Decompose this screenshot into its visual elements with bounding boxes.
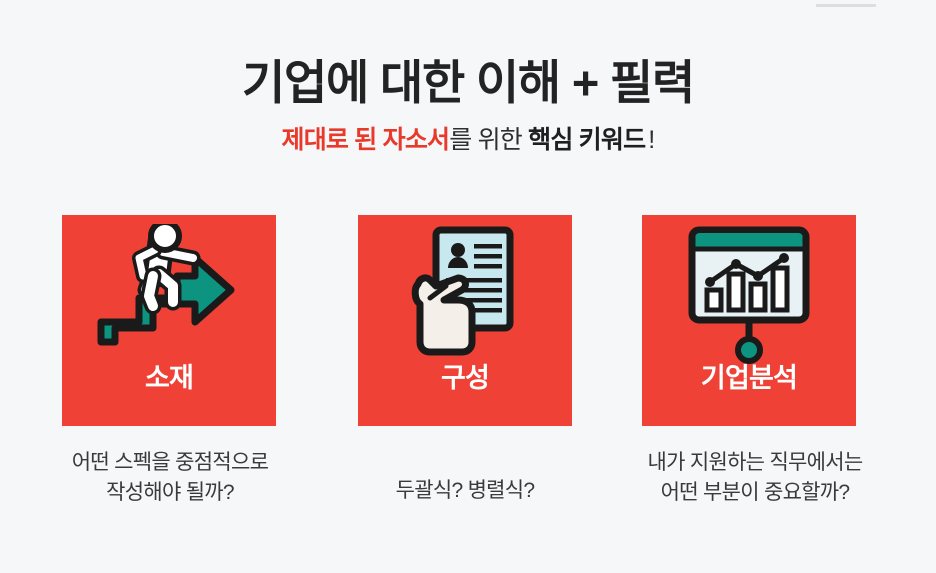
subtitle-plain-text: 를 위한 <box>449 126 528 154</box>
subtitle-exclamation: ! <box>645 126 654 154</box>
caption-line: 내가 지원하는 직무에서는 <box>600 448 910 478</box>
caption-line: 작성해야 될까? <box>20 478 320 508</box>
card-label: 구성 <box>441 365 489 392</box>
page-subtitle: 제대로 된 자소서를 위한 핵심 키워드! <box>282 125 655 155</box>
person-climbing-stairs-arrow-icon <box>62 215 276 367</box>
card-caption-gieop-bunseok: 내가 지원하는 직무에서는 어떤 부분이 중요할까? <box>600 448 910 508</box>
caption-line: 어떤 스펙을 중점적으로 <box>20 448 320 478</box>
keyword-card-group: 소재 <box>0 215 936 426</box>
keyword-card-so-jae[interactable]: 소재 <box>62 215 276 426</box>
card-label: 소재 <box>145 365 193 392</box>
keyword-card-gieop-bunseok[interactable]: 기업분석 <box>642 215 856 426</box>
subtitle-strong-text: 핵심 키워드 <box>528 126 645 154</box>
card-label: 기업분석 <box>701 365 797 392</box>
card-caption-so-jae: 어떤 스펙을 중점적으로 작성해야 될까? <box>20 448 320 508</box>
hand-holding-resume-icon <box>358 215 572 367</box>
caption-group: 어떤 스펙을 중점적으로 작성해야 될까? 두괄식? 병렬식? 내가 지원하는 … <box>0 448 936 538</box>
page-title: 기업에 대한 이해 + 필력 <box>242 57 694 109</box>
presentation-board-chart-icon <box>642 215 856 367</box>
slide-container: 기업에 대한 이해 + 필력 제대로 된 자소서를 위한 핵심 키워드! <box>0 0 936 573</box>
caption-line: 어떤 부분이 중요할까? <box>600 478 910 508</box>
subtitle-accent-text: 제대로 된 자소서 <box>282 126 450 154</box>
card-caption-gu-seong: 두괄식? 병렬식? <box>340 448 590 506</box>
keyword-card-gu-seong[interactable]: 구성 <box>358 215 572 426</box>
caption-line: 두괄식? 병렬식? <box>340 476 590 506</box>
